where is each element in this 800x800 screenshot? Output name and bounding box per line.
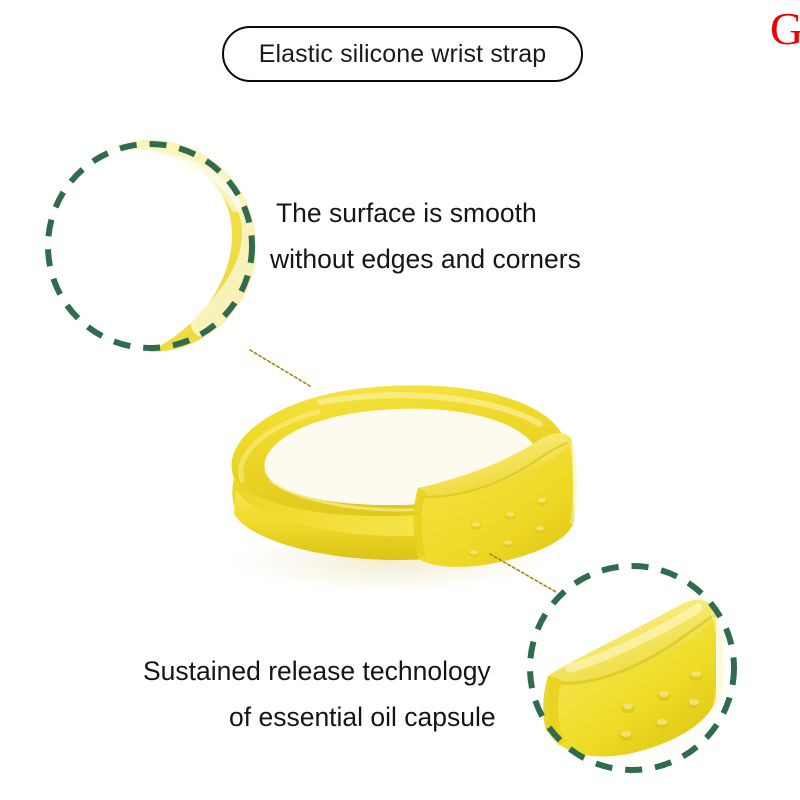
caption-capsule: Sustained release technology of essentia… — [143, 648, 496, 740]
zoomed-capsule — [526, 562, 738, 774]
infographic-canvas: Elastic silicone wrist strap G — [0, 0, 800, 800]
caption-capsule-line2: of essential oil capsule — [229, 694, 496, 740]
callout-surface-smoothness — [44, 140, 256, 352]
caption-surface-line2: without edges and corners — [270, 236, 581, 282]
leader-line-surface — [244, 344, 324, 392]
caption-surface: The surface is smooth without edges and … — [276, 190, 581, 282]
caption-capsule-line1: Sustained release technology — [143, 656, 491, 686]
zoomed-band-edge — [44, 140, 256, 352]
caption-surface-line1: The surface is smooth — [276, 198, 537, 228]
callout-essential-oil-capsule — [526, 562, 738, 774]
callout-capsule-image — [526, 562, 738, 774]
callout-surface-image — [44, 140, 256, 352]
title-pill: Elastic silicone wrist strap — [222, 26, 583, 82]
watermark-letter-g: G — [770, 6, 800, 52]
page-title: Elastic silicone wrist strap — [259, 40, 547, 69]
